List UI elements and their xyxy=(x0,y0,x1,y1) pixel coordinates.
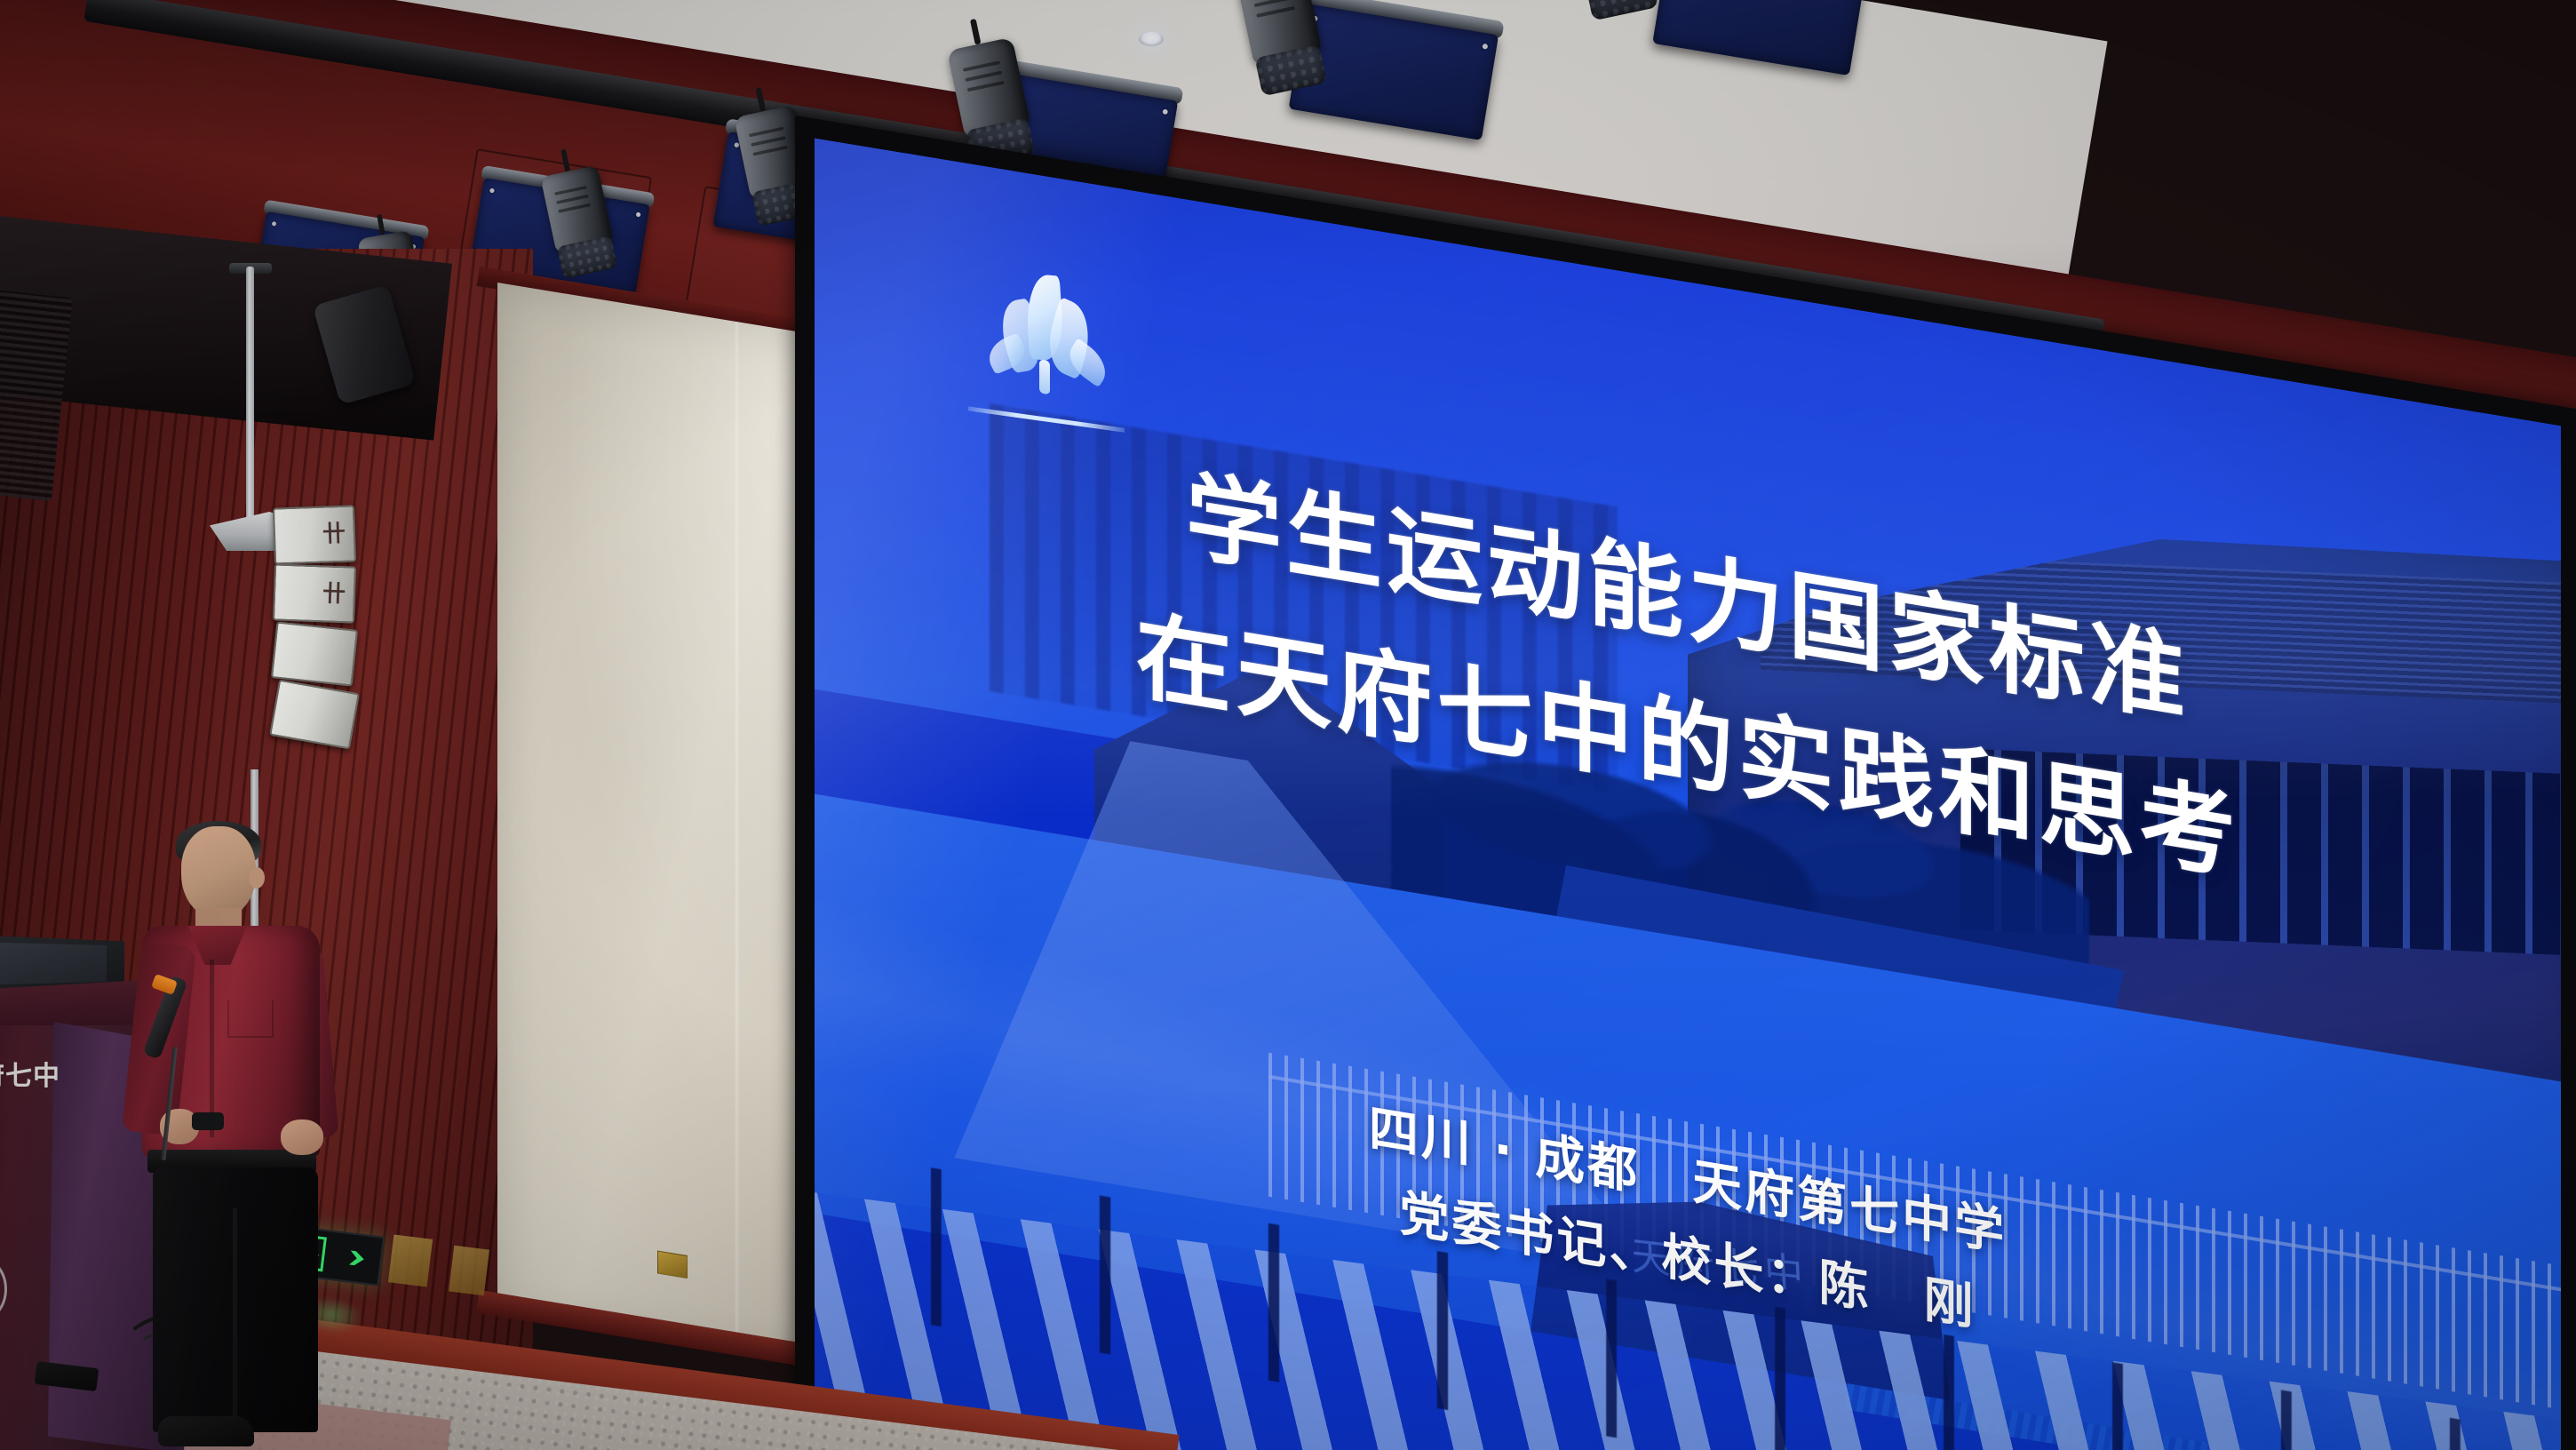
wall-access-plate xyxy=(657,1250,688,1279)
presenter-ear xyxy=(249,867,265,888)
line-array-speaker: 卄 卄 xyxy=(274,506,355,773)
speaker-brand-mark: 卄 xyxy=(322,522,346,546)
led-screen-assembly: 天府七中 学生运动能力国家标准 在天府七中的实践和思考 xyxy=(795,0,2576,1450)
presenter-trouser-seam xyxy=(233,1208,237,1430)
presenter-shirt-placket xyxy=(210,960,214,1137)
speaker-suspension-pole xyxy=(246,267,254,533)
auditorium-photo: 卄 卄 xyxy=(0,0,2576,1450)
screen-bezel: 天府七中 学生运动能力国家标准 在天府七中的实践和思考 xyxy=(795,116,2576,1450)
presenter-shirt-pocket xyxy=(227,1000,274,1038)
recessed-downlight-icon xyxy=(1139,32,1164,46)
presenter-head xyxy=(181,826,256,919)
wall-plate xyxy=(449,1246,489,1295)
presenter-shoe xyxy=(158,1416,254,1446)
wall-plate xyxy=(388,1235,433,1287)
speaker-brand-mark: 卄 xyxy=(322,582,346,606)
podium-nameplate: 天府七中 xyxy=(0,1054,60,1093)
presentation-remote[interactable] xyxy=(192,1112,224,1130)
presenter-person xyxy=(107,826,346,1450)
led-screen-display[interactable]: 天府七中 学生运动能力国家标准 在天府七中的实践和思考 xyxy=(815,139,2561,1450)
presenter-right-hand xyxy=(281,1119,323,1155)
